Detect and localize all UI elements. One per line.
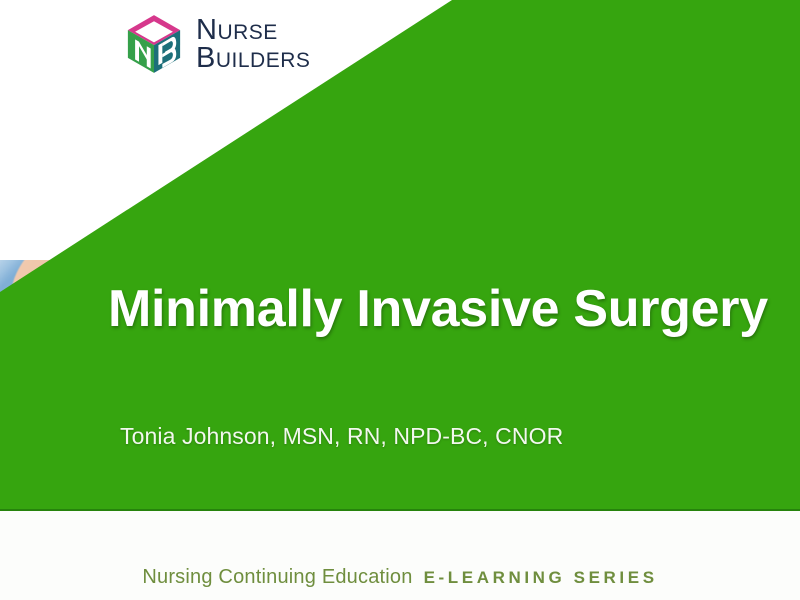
brand-logo-word-nurse: NURSE [196,16,310,44]
brand-logo[interactable]: NURSE BUILDERS [126,14,310,74]
footer-text-group: Nursing Continuing Education E-LEARNING … [142,566,657,589]
brand-logo-word-builders: BUILDERS [196,44,310,72]
footer-program-label: Nursing Continuing Education [142,566,412,589]
brand-logo-wordmark: NURSE BUILDERS [196,16,310,72]
nurse-builders-cube-logo-icon [126,14,182,74]
slide-footer: Nursing Continuing Education E-LEARNING … [0,511,800,600]
slide-title: Minimally Invasive Surgery [108,279,768,339]
presentation-slide: NURSE BUILDERS Minimally Invasive Surger… [0,0,800,600]
presenter-credits: Tonia Johnson, MSN, RN, NPD-BC, CNOR [120,423,563,450]
footer-series-label: E-LEARNING SERIES [424,568,658,588]
